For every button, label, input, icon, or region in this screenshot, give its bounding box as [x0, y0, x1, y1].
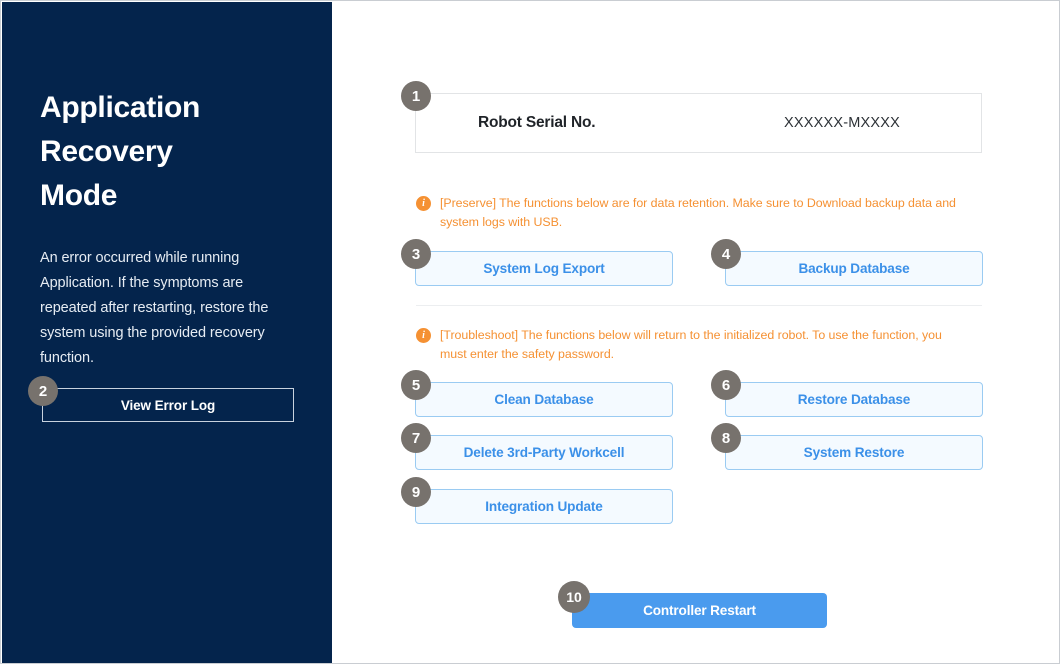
troubleshoot-note-text: [Troubleshoot] The functions below will … [440, 326, 961, 364]
controller-restart-button[interactable]: Controller Restart [572, 593, 827, 628]
preserve-note: i [Preserve] The functions below are for… [416, 194, 961, 232]
restore-database-group: 6 Restore Database [725, 382, 983, 417]
step-badge-5: 5 [401, 370, 431, 400]
page-title: Application Recovery Mode [40, 86, 290, 218]
robot-serial-box: Robot Serial No. XXXXXX-MXXXX [415, 93, 982, 153]
section-divider [416, 305, 982, 306]
backup-database-group: 4 Backup Database [725, 251, 983, 286]
page-title-line-3: Mode [40, 174, 290, 218]
clean-database-group: 5 Clean Database [415, 382, 673, 417]
system-log-export-group: 3 System Log Export [415, 251, 673, 286]
backup-database-button[interactable]: Backup Database [725, 251, 983, 286]
info-icon: i [416, 328, 431, 343]
controller-restart-group: 10 Controller Restart [572, 593, 827, 628]
main-panel: 1 Robot Serial No. XXXXXX-MXXXX i [Prese… [332, 2, 1060, 663]
page-title-line-1: Application [40, 86, 290, 130]
restore-database-button[interactable]: Restore Database [725, 382, 983, 417]
preserve-note-text: [Preserve] The functions below are for d… [440, 194, 961, 232]
robot-serial-group: 1 Robot Serial No. XXXXXX-MXXXX [415, 93, 982, 153]
view-error-log-group: 2 View Error Log [42, 388, 294, 422]
sidebar: Application Recovery Mode An error occur… [2, 2, 332, 663]
system-restore-button[interactable]: System Restore [725, 435, 983, 470]
error-description-text: An error occurred while running Applicat… [40, 246, 292, 371]
robot-serial-value: XXXXXX-MXXXX [784, 115, 900, 131]
application-recovery-mode-screen: Application Recovery Mode An error occur… [0, 0, 1060, 664]
delete-3rd-party-workcell-button[interactable]: Delete 3rd-Party Workcell [415, 435, 673, 470]
integration-update-group: 9 Integration Update [415, 489, 673, 524]
page-title-line-2: Recovery [40, 130, 290, 174]
step-badge-3: 3 [401, 239, 431, 269]
system-restore-group: 8 System Restore [725, 435, 983, 470]
clean-database-button[interactable]: Clean Database [415, 382, 673, 417]
step-badge-9: 9 [401, 477, 431, 507]
view-error-log-button[interactable]: View Error Log [42, 388, 294, 422]
step-badge-2: 2 [28, 376, 58, 406]
integration-update-button[interactable]: Integration Update [415, 489, 673, 524]
step-badge-8: 8 [711, 423, 741, 453]
delete-3rd-party-workcell-group: 7 Delete 3rd-Party Workcell [415, 435, 673, 470]
info-icon: i [416, 196, 431, 211]
step-badge-6: 6 [711, 370, 741, 400]
step-badge-10: 10 [558, 581, 590, 613]
step-badge-4: 4 [711, 239, 741, 269]
robot-serial-label: Robot Serial No. [478, 114, 595, 132]
step-badge-7: 7 [401, 423, 431, 453]
step-badge-1: 1 [401, 81, 431, 111]
troubleshoot-note: i [Troubleshoot] The functions below wil… [416, 326, 961, 364]
system-log-export-button[interactable]: System Log Export [415, 251, 673, 286]
